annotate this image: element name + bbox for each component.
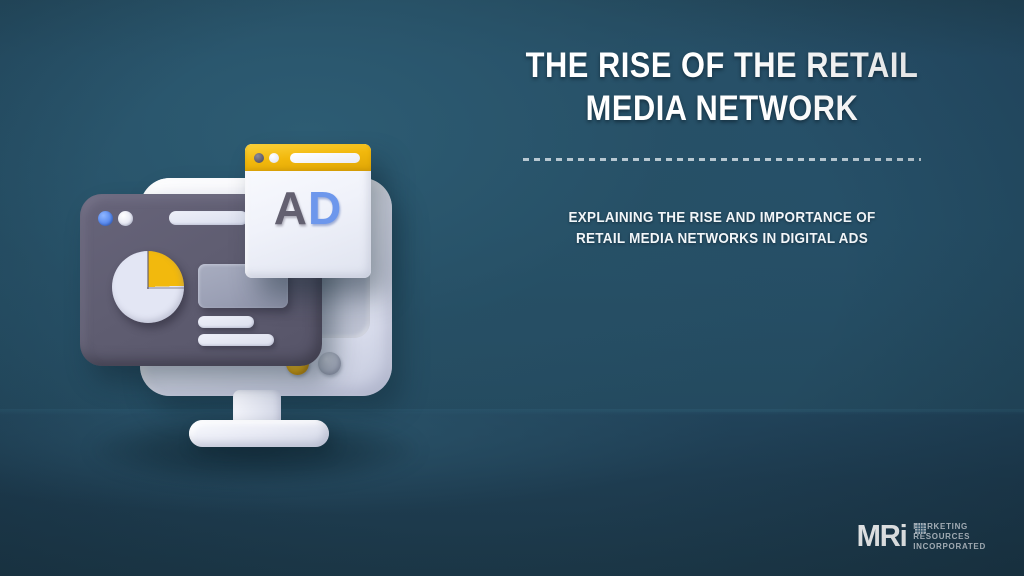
logo-wordmark-mr: MR <box>857 518 900 553</box>
logo-tagline-line-3: INCORPORATED <box>913 542 986 551</box>
dashboard-address-bar <box>169 211 248 225</box>
logo-wordmark: MRi <box>857 520 907 551</box>
pie-seam-horizontal <box>147 287 184 289</box>
dashboard-white-dot-icon <box>118 211 133 226</box>
ad-label-a: A <box>274 182 308 234</box>
dashboard-text-line <box>198 334 274 346</box>
ad-card-white-dot-icon <box>269 153 279 163</box>
logo-wordmark-i: i <box>900 518 907 553</box>
ad-label-d: D <box>308 182 342 234</box>
page-subtitle: EXPLAINING THE RISE AND IMPORTANCE OF RE… <box>542 207 902 249</box>
ad-card-address-bar <box>290 153 360 163</box>
ad-label: AD <box>245 182 371 234</box>
dashboard-blue-dot-icon <box>98 211 113 226</box>
title-text-block: THE RISE OF THE RETAIL MEDIA NETWORK EXP… <box>486 44 958 249</box>
pie-chart-icon <box>112 251 184 323</box>
page-subtitle-line-2: RETAIL MEDIA NETWORKS IN DIGITAL ADS <box>542 228 902 249</box>
page-subtitle-line-1: EXPLAINING THE RISE AND IMPORTANCE OF <box>542 207 902 228</box>
ad-card-dark-dot-icon <box>254 153 264 163</box>
monitor-stand-base <box>189 420 329 447</box>
monitor-gray-dot-icon <box>318 352 341 375</box>
ad-card-titlebar <box>245 144 371 171</box>
brand-logo: MRi MARKETING RESOURCES INCORPORATED <box>855 514 1000 556</box>
dashboard-text-line <box>198 316 254 328</box>
hero-illustration: AD <box>62 132 454 462</box>
pie-seam-vertical <box>147 251 149 289</box>
page-title: THE RISE OF THE RETAIL MEDIA NETWORK <box>514 44 929 130</box>
ad-popup-card: AD <box>245 144 371 278</box>
title-slide: AD THE RISE OF THE RETAIL MEDIA NETWORK … <box>0 0 1024 576</box>
globe-icon <box>915 523 926 534</box>
dashed-divider <box>523 158 921 161</box>
